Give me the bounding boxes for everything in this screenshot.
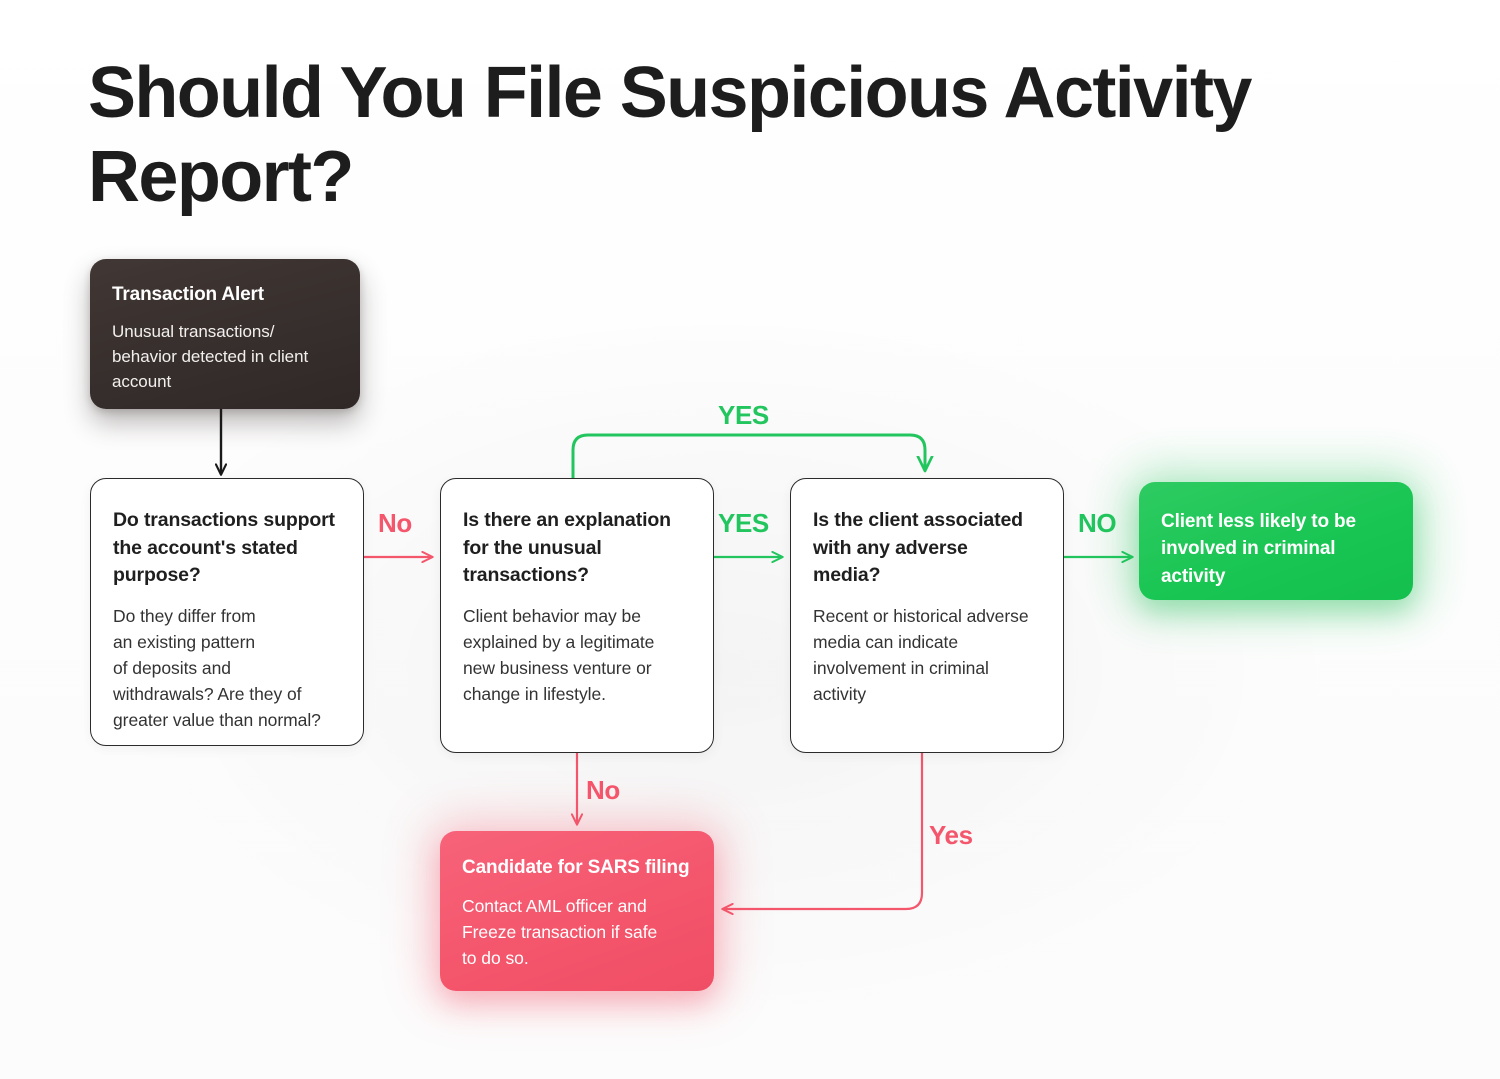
node-transaction-alert-title: Transaction Alert <box>112 282 336 309</box>
node-question-adverse-media[interactable]: Is the client associated with any advers… <box>790 478 1064 753</box>
node-question-account-purpose-title: Do transactions support the account's st… <box>113 507 339 590</box>
node-question-adverse-media-body: Recent or historical adverse media can i… <box>813 604 1039 708</box>
node-outcome-sars-filing[interactable]: Candidate for SARS filing Contact AML of… <box>440 831 714 991</box>
edge-label-q3-yes: Yes <box>929 820 973 851</box>
node-question-account-purpose[interactable]: Do transactions support the account's st… <box>90 478 364 746</box>
edge-label-q2-yes-top: YES <box>718 400 769 431</box>
node-outcome-less-likely[interactable]: Client less likely to be involved in cri… <box>1139 482 1413 600</box>
edge-label-q1-no: No <box>378 508 412 539</box>
node-question-explanation-title: Is there an explanation for the unusual … <box>463 507 689 590</box>
node-outcome-sars-filing-body: Contact AML officer and Freeze transacti… <box>462 894 692 972</box>
node-transaction-alert[interactable]: Transaction Alert Unusual transactions/ … <box>90 259 360 409</box>
node-outcome-sars-filing-title: Candidate for SARS filing <box>462 855 692 882</box>
edge-q3-yes-pink <box>723 753 922 909</box>
node-question-explanation-body: Client behavior may be explained by a le… <box>463 604 689 708</box>
edge-q2-yes-q3-top <box>573 435 925 478</box>
edge-label-q2-yes-mid: YES <box>718 508 769 539</box>
edge-label-q2-no: No <box>586 775 620 806</box>
node-question-account-purpose-body: Do they differ from an existing pattern … <box>113 604 339 733</box>
page-title: Should You File Suspicious Activity Repo… <box>88 52 1318 219</box>
node-question-explanation[interactable]: Is there an explanation for the unusual … <box>440 478 714 753</box>
edge-label-q3-no: NO <box>1078 508 1116 539</box>
node-transaction-alert-body: Unusual transactions/ behavior detected … <box>112 319 336 394</box>
node-question-adverse-media-title: Is the client associated with any advers… <box>813 507 1039 590</box>
node-outcome-less-likely-title: Client less likely to be involved in cri… <box>1161 508 1391 590</box>
